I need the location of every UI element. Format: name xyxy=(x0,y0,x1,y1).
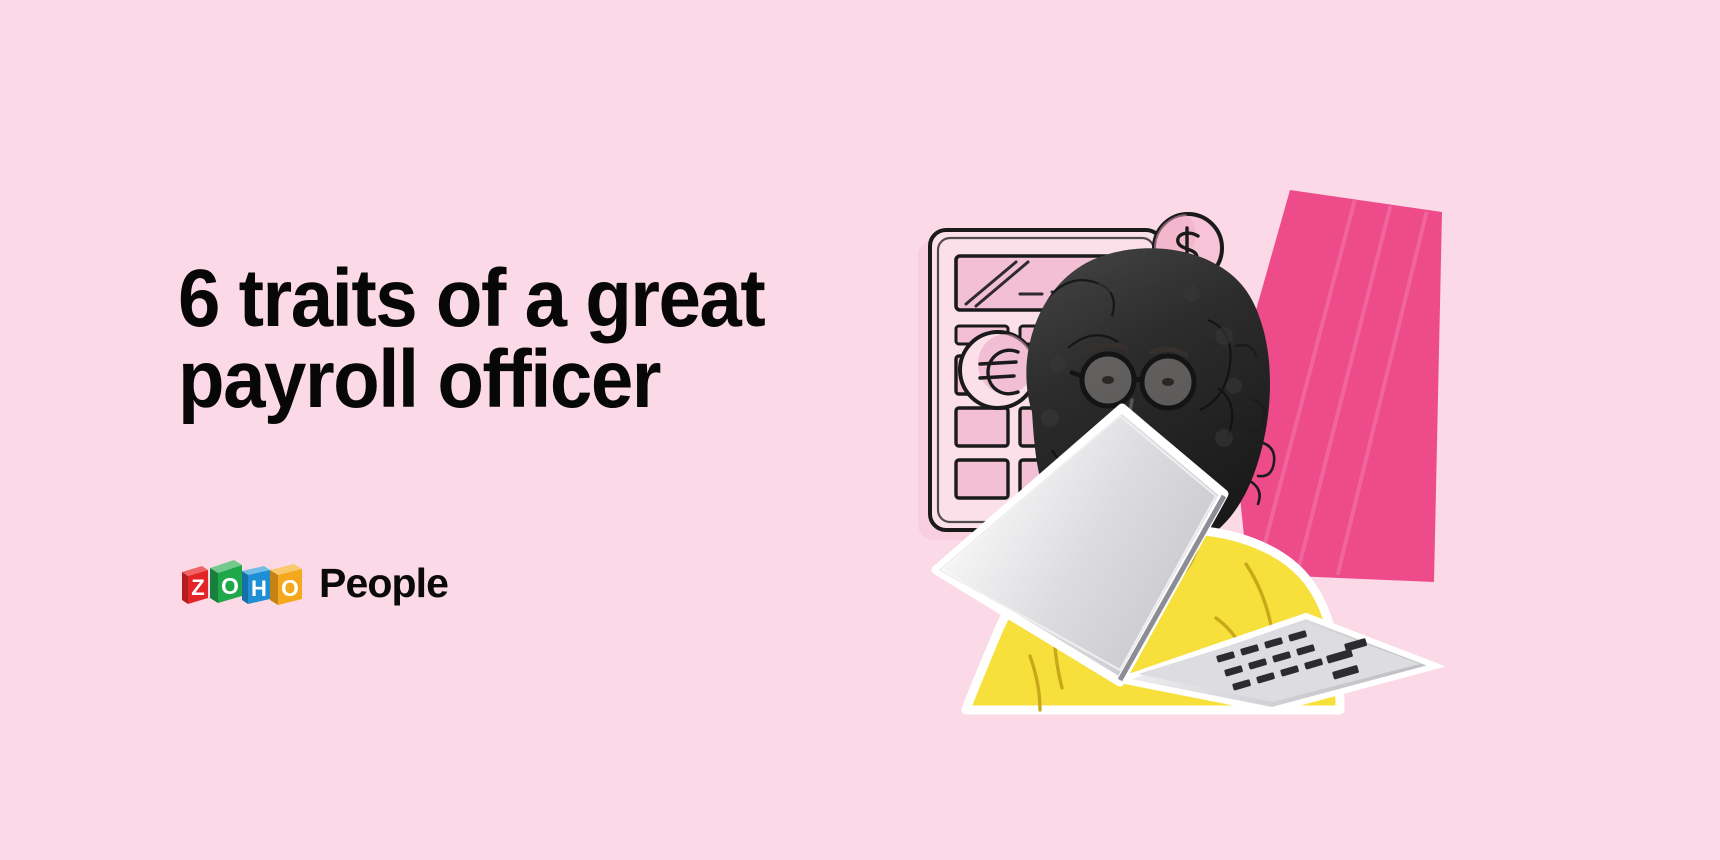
page-title: 6 traits of a great xyxy=(178,258,885,339)
svg-text:Z: Z xyxy=(191,575,204,600)
zoho-tile-o2: O xyxy=(270,564,302,605)
svg-text:O: O xyxy=(281,575,299,601)
svg-text:H: H xyxy=(251,576,267,601)
logo-product-name: People xyxy=(319,563,448,604)
banner-canvas: 6 traits of a great payroll officer Z O xyxy=(0,0,1720,860)
zoho-people-logo[interactable]: Z O H O People xyxy=(178,558,448,610)
zoho-tile-z: Z xyxy=(182,566,208,604)
page-title-line2: payroll officer xyxy=(178,339,885,420)
euro-coin-icon xyxy=(960,332,1036,408)
illustration xyxy=(820,150,1460,710)
headline-block: 6 traits of a great payroll officer xyxy=(178,258,938,420)
zoho-tile-h: H xyxy=(242,566,270,604)
zoho-tile-o1: O xyxy=(210,560,242,603)
svg-text:O: O xyxy=(221,573,239,599)
zoho-logo-icon: Z O H O xyxy=(178,558,306,610)
illustration-svg xyxy=(820,150,1460,710)
